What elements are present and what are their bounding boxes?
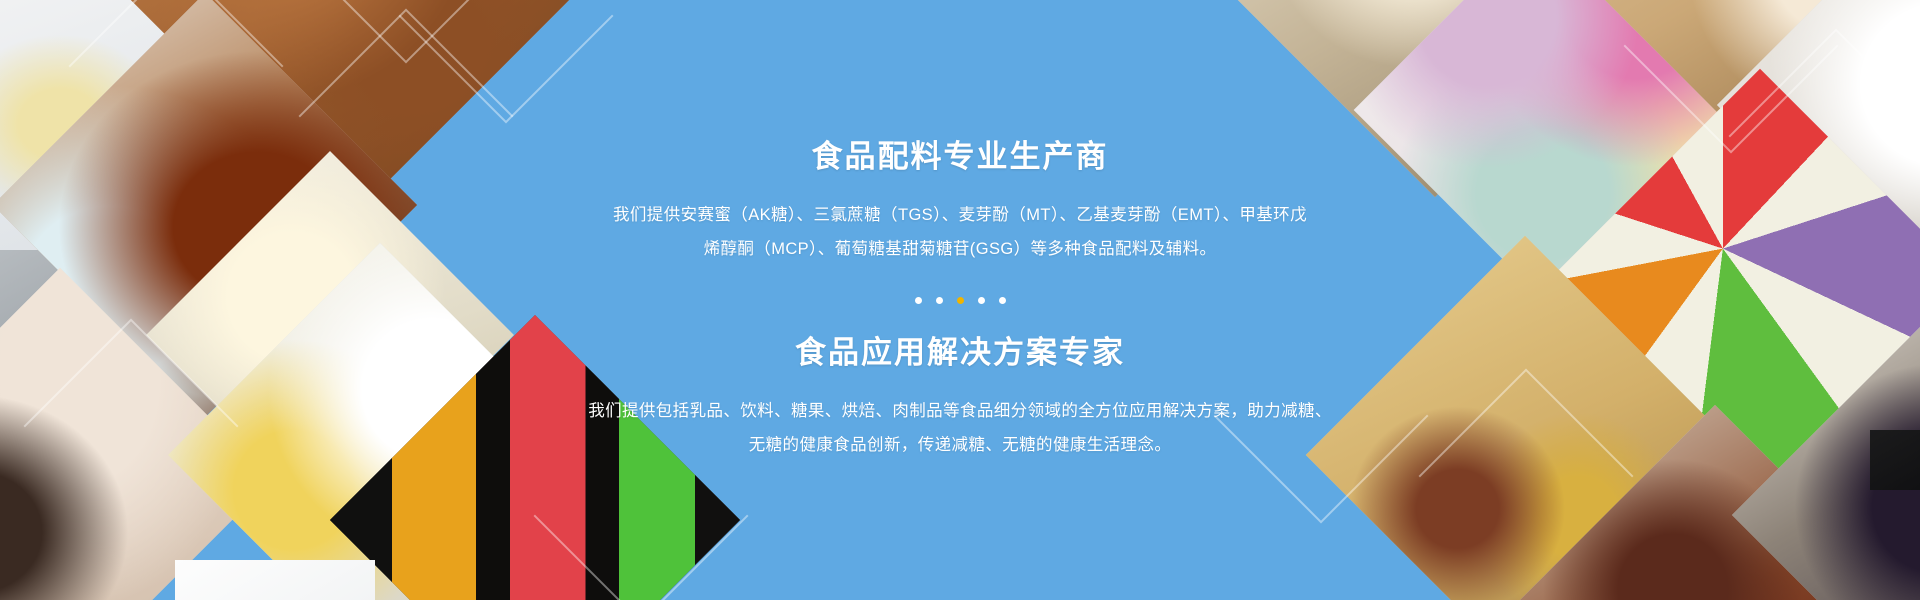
- dot-separator: [915, 297, 1006, 304]
- paragraph-primary-line-2: 烯醇酮（MCP）、葡萄糖基甜菊糖苷(GSG）等多种食品配料及辅料。: [704, 240, 1217, 258]
- separator-dot-accent: [957, 297, 964, 304]
- headline-primary: 食品配料专业生产商: [550, 138, 1370, 175]
- separator-dot-1: [915, 297, 922, 304]
- promotional-banner: 食品配料专业生产商 我们提供安赛蜜（AK糖）、三氯蔗糖（TGS）、麦芽酚（MT）…: [0, 0, 1920, 600]
- headline-secondary: 食品应用解决方案专家: [550, 334, 1370, 371]
- paragraph-secondary: 我们提供包括乳品、饮料、糖果、烘焙、肉制品等食品细分领域的全方位应用解决方案，助…: [550, 395, 1370, 463]
- paragraph-primary-line-1: 我们提供安赛蜜（AK糖）、三氯蔗糖（TGS）、麦芽酚（MT）、乙基麦芽酚（EMT…: [613, 206, 1307, 224]
- paragraph-secondary-line-1: 我们提供包括乳品、饮料、糖果、烘焙、肉制品等食品细分领域的全方位应用解决方案，助…: [588, 402, 1332, 420]
- section-block-manufacturer: 食品配料专业生产商 我们提供安赛蜜（AK糖）、三氯蔗糖（TGS）、麦芽酚（MT）…: [550, 138, 1370, 267]
- separator-dot-4: [978, 297, 985, 304]
- paragraph-primary: 我们提供安赛蜜（AK糖）、三氯蔗糖（TGS）、麦芽酚（MT）、乙基麦芽酚（EMT…: [550, 199, 1370, 267]
- paragraph-secondary-line-2: 无糖的健康食品创新，传递减糖、无糖的健康生活理念。: [749, 436, 1172, 454]
- separator-dot-5: [999, 297, 1006, 304]
- section-block-solutions: 食品应用解决方案专家 我们提供包括乳品、饮料、糖果、烘焙、肉制品等食品细分领域的…: [550, 334, 1370, 463]
- separator-dot-2: [936, 297, 943, 304]
- banner-content: 食品配料专业生产商 我们提供安赛蜜（AK糖）、三氯蔗糖（TGS）、麦芽酚（MT）…: [0, 0, 1920, 600]
